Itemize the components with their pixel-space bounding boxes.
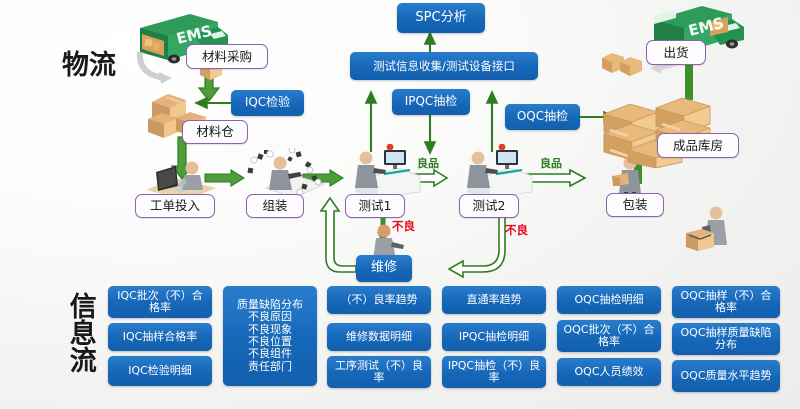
flow-tag-good-1: 良品	[417, 155, 439, 171]
info-box-fpy-trend[interactable]: 直通率趋势	[442, 286, 546, 314]
system-box-ipqc-sampling[interactable]: IPQC抽检	[392, 89, 470, 115]
packer-worker-icon	[680, 205, 736, 255]
process-label-shipping[interactable]: 出货	[646, 40, 706, 65]
system-box-oqc-sampling[interactable]: OQC抽检	[505, 104, 580, 130]
system-box-iqc-inspection[interactable]: IQC检验	[231, 90, 304, 116]
process-label-test2[interactable]: 测试2	[459, 194, 519, 218]
process-label-material-purchase[interactable]: 材料采购	[186, 44, 268, 69]
info-box-iqc-sample-rate[interactable]: IQC抽样合格率	[108, 323, 212, 351]
information-flow-grid: IQC批次（不）合格率 IQC抽样合格率 IQC检验明细 质量缺陷分布 不良原因…	[108, 286, 798, 406]
info-box-repair-detail[interactable]: 维修数据明细	[327, 323, 431, 351]
process-label-assembly[interactable]: 组装	[246, 194, 304, 218]
system-box-spc-analysis[interactable]: SPC分析	[397, 3, 485, 33]
info-box-ipqc-detail[interactable]: IPQC抽检明细	[442, 323, 546, 351]
info-box-iqc-batch-rate[interactable]: IQC批次（不）合格率	[108, 286, 212, 318]
info-box-process-test-yield[interactable]: 工序测试（不）良率	[327, 356, 431, 388]
info-box-oqc-batch-rate[interactable]: OQC批次（不）合格率	[557, 320, 661, 352]
info-box-iqc-detail[interactable]: IQC检验明细	[108, 356, 212, 386]
flow-diagram-canvas: 物流 信息流	[0, 0, 800, 409]
info-box-oqc-detail[interactable]: OQC抽检明细	[557, 286, 661, 314]
process-label-material-warehouse[interactable]: 材料仓	[182, 120, 248, 144]
info-box-oqc-defect-dist[interactable]: OQC抽样质量缺陷分布	[672, 323, 780, 355]
system-box-repair[interactable]: 维修	[356, 255, 412, 282]
info-box-ipqc-yield[interactable]: IPQC抽检（不）良率	[442, 356, 546, 388]
process-label-test1[interactable]: 测试1	[345, 194, 405, 218]
info-box-oqc-sample-rate[interactable]: OQC抽样（不）合格率	[672, 286, 780, 318]
flow-tag-good-2: 良品	[540, 155, 562, 171]
arrow-test2-to-repair	[449, 211, 505, 277]
process-label-packaging[interactable]: 包装	[606, 193, 664, 217]
info-box-quality-defect-distribution[interactable]: 质量缺陷分布 不良原因 不良现象 不良位置 不良组件 责任部门	[223, 286, 317, 386]
flow-tag-defect-2: 不良	[505, 222, 528, 238]
system-box-test-info[interactable]: 测试信息收集/测试设备接口	[350, 52, 538, 80]
info-box-oqc-quality-trend[interactable]: OQC质量水平趋势	[672, 360, 780, 392]
process-label-finished-warehouse[interactable]: 成品库房	[657, 133, 739, 158]
process-label-work-order-input[interactable]: 工单投入	[135, 194, 215, 218]
info-box-yield-trend[interactable]: （不）良率趋势	[327, 286, 431, 314]
info-box-oqc-staff[interactable]: OQC人员绩效	[557, 358, 661, 386]
flow-tag-defect-1: 不良	[392, 218, 415, 234]
